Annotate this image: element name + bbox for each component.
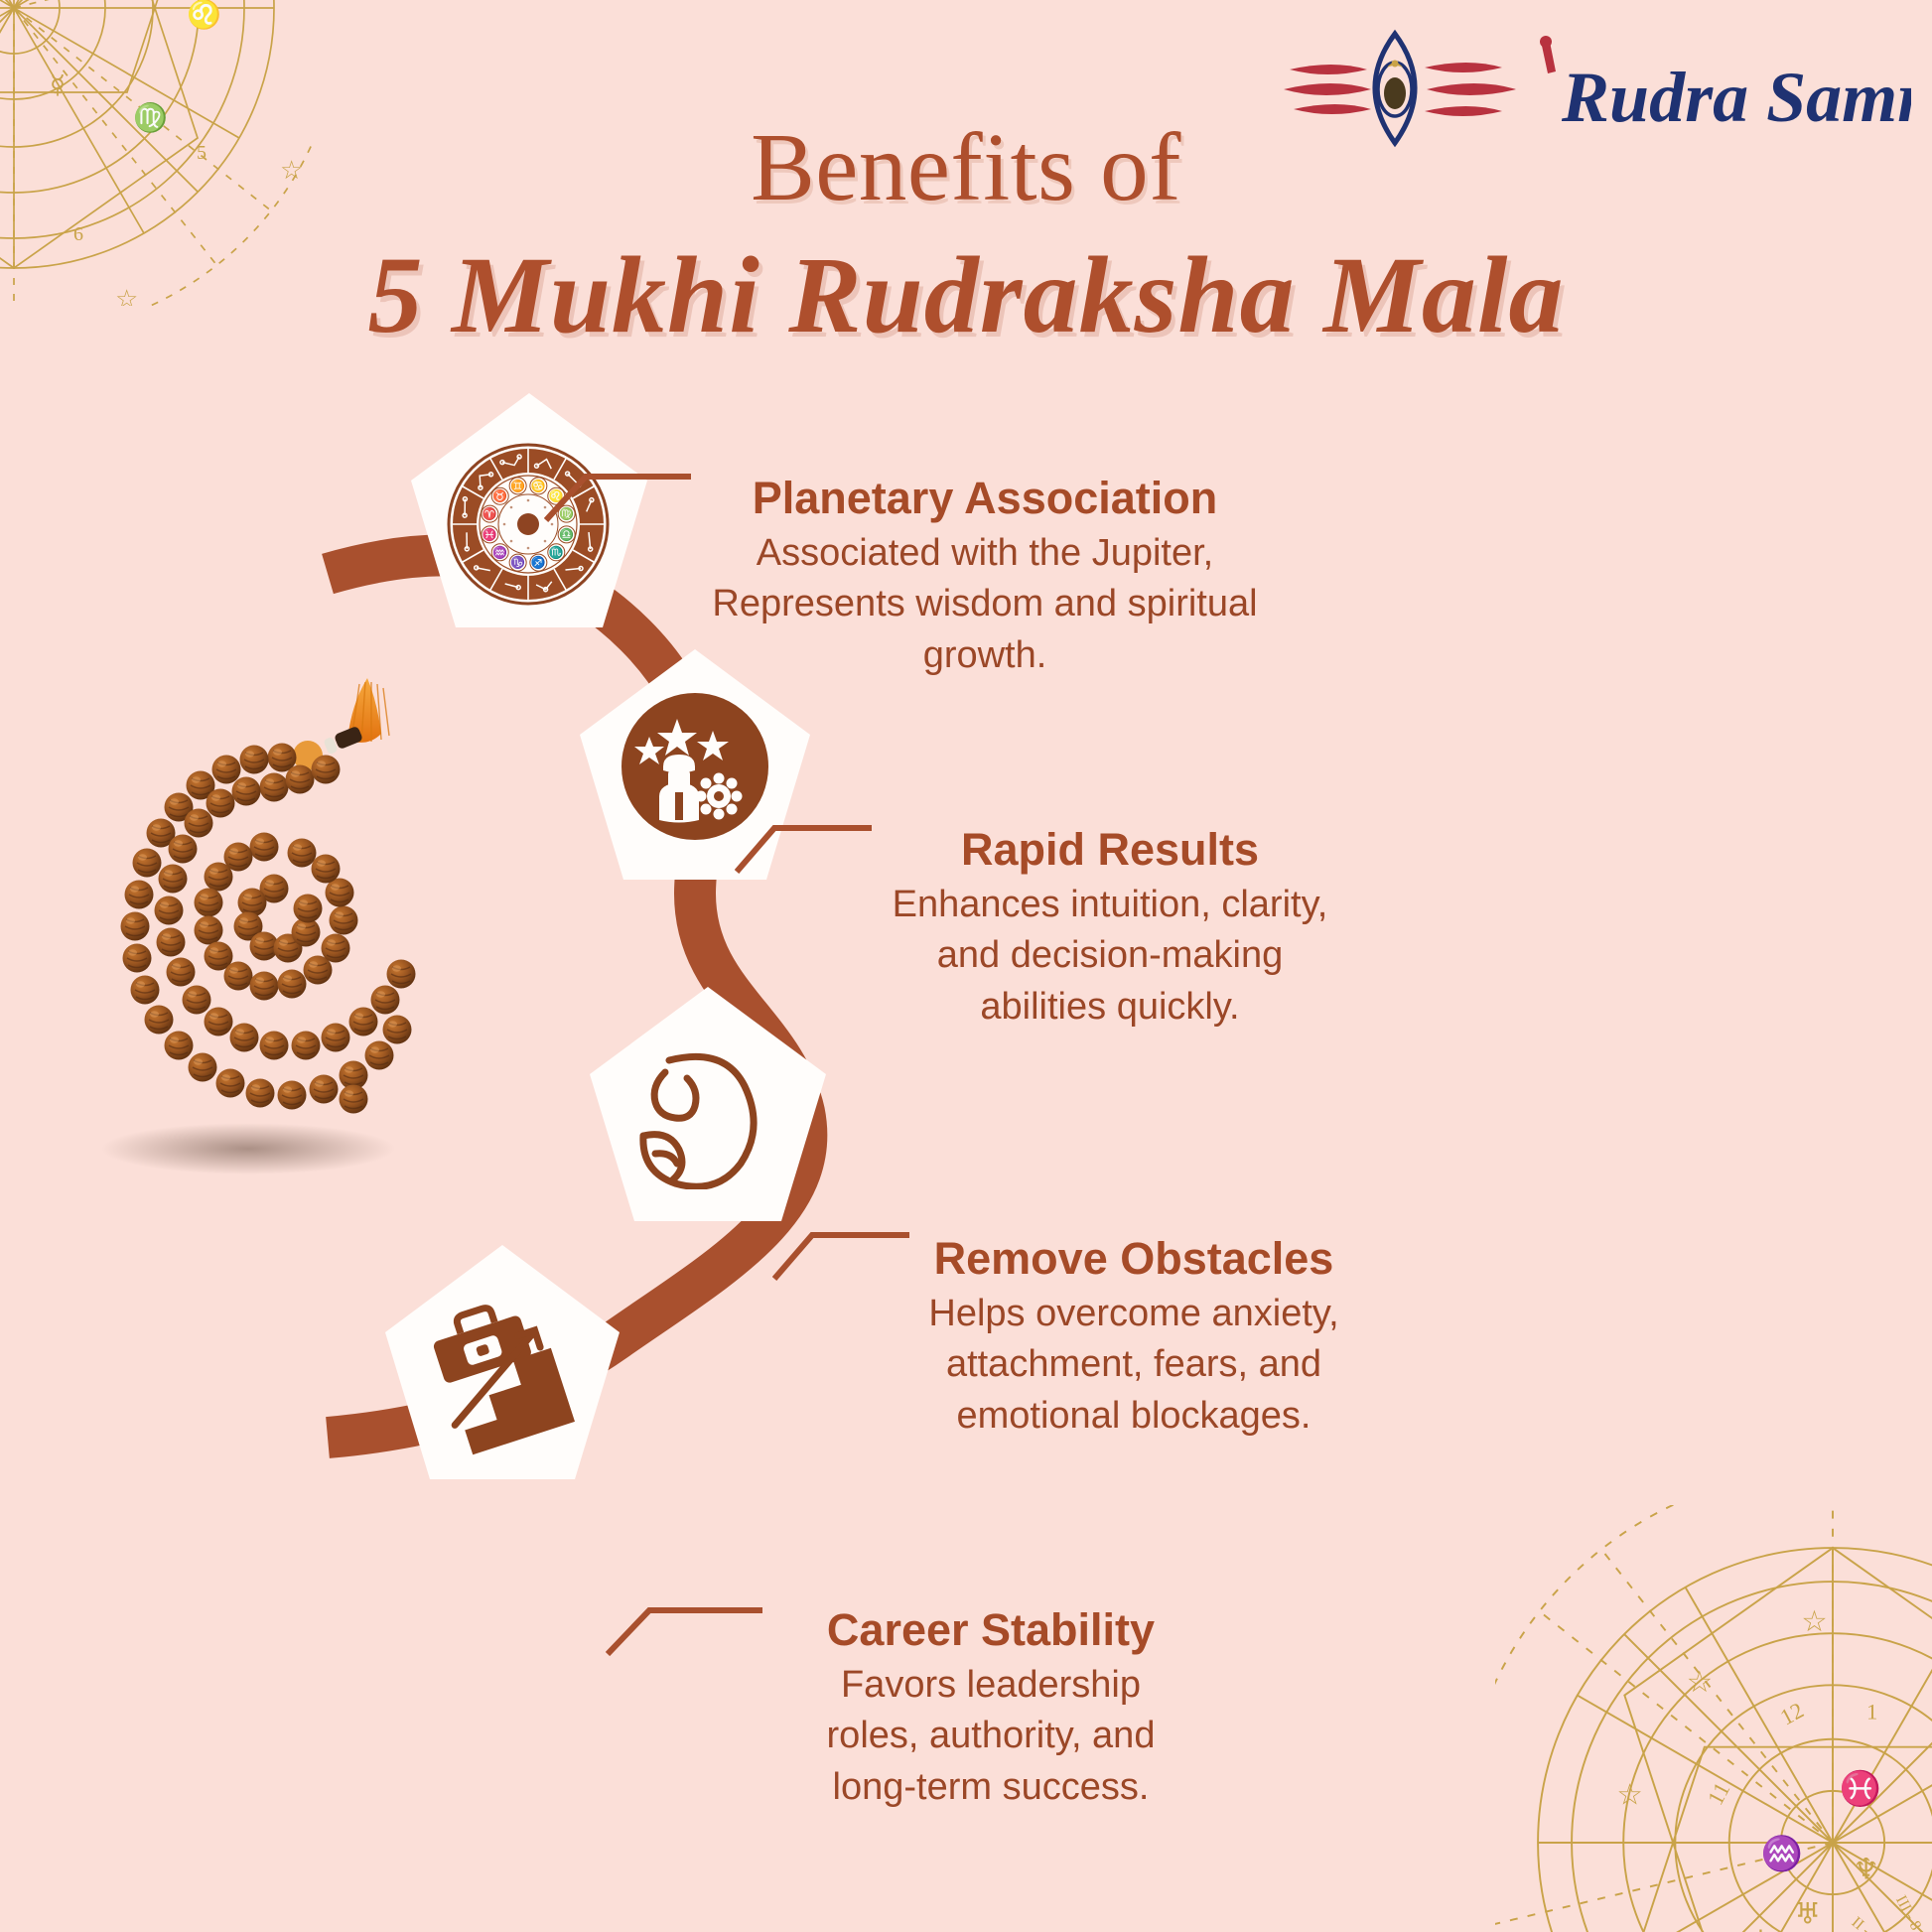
benefit-node-remove-obstacles[interactable] bbox=[584, 983, 832, 1234]
svg-text:♈: ♈ bbox=[483, 507, 497, 521]
svg-text:♏: ♏ bbox=[549, 545, 564, 559]
flexed-bicep-icon bbox=[629, 1031, 788, 1189]
benefit-heading: Planetary Association bbox=[667, 475, 1303, 522]
svg-text:♓: ♓ bbox=[483, 527, 497, 541]
infographic-canvas: ♌ ☉ ♍ ☽ ♋ ☿ ♄ △ △ △ ♀ ♃ 5 6 ☆ ☆ ☆ VI - 2… bbox=[0, 0, 1932, 1932]
benefit-text-remove-obstacles: Remove Obstacles Helps overcome anxiety,… bbox=[856, 1235, 1412, 1443]
benefit-heading: Career Stability bbox=[713, 1606, 1269, 1654]
svg-text:♑: ♑ bbox=[510, 556, 525, 570]
benefit-text-career-stability: Career Stability Favors leadership roles… bbox=[713, 1606, 1269, 1814]
benefit-node-career-stability[interactable] bbox=[379, 1241, 625, 1491]
benefit-heading: Remove Obstacles bbox=[856, 1235, 1412, 1283]
benefit-body: Helps overcome anxiety, attachment, fear… bbox=[856, 1289, 1412, 1443]
svg-text:♒: ♒ bbox=[492, 545, 507, 559]
benefit-heading: Rapid Results bbox=[832, 826, 1388, 874]
svg-text:♐: ♐ bbox=[531, 556, 546, 570]
benefit-body: Favors leadership roles, authority, and … bbox=[713, 1660, 1269, 1814]
benefit-text-rapid-results: Rapid Results Enhances intuition, clarit… bbox=[832, 826, 1388, 1034]
svg-text:♊: ♊ bbox=[510, 479, 525, 492]
svg-text:♎: ♎ bbox=[559, 527, 574, 541]
benefit-body: Enhances intuition, clarity, and decisio… bbox=[832, 880, 1388, 1034]
svg-text:♉: ♉ bbox=[492, 489, 507, 503]
briefcase-stairs-arrow-icon bbox=[415, 1285, 590, 1459]
